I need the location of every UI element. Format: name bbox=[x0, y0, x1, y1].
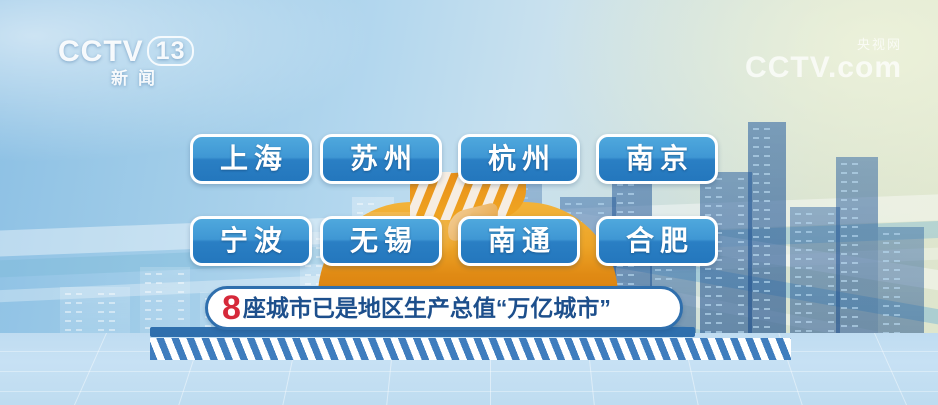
city-chip-label: 宁波 bbox=[214, 227, 288, 255]
city-chip-label: 无锡 bbox=[344, 227, 418, 255]
channel-logo: CCTV13 新闻 bbox=[58, 36, 208, 94]
watermark-main: CCTV.com bbox=[745, 52, 902, 84]
watermark-suffix: .com bbox=[828, 51, 902, 84]
city-chip-label: 南通 bbox=[482, 227, 556, 255]
city-chip-nanjing[interactable]: 南京 bbox=[596, 134, 718, 184]
city-chip-label: 杭州 bbox=[482, 145, 556, 173]
city-chip-shanghai[interactable]: 上海 bbox=[190, 134, 312, 184]
city-chip-label: 苏州 bbox=[344, 145, 418, 173]
channel-logo-number: 13 bbox=[147, 36, 195, 66]
city-chip-hefei[interactable]: 合肥 bbox=[596, 216, 718, 266]
caption-text: 座城市已是地区生产总值“万亿城市” bbox=[243, 297, 611, 320]
city-chip-ningbo[interactable]: 宁波 bbox=[190, 216, 312, 266]
city-chip-nantong[interactable]: 南通 bbox=[458, 216, 580, 266]
city-chip-label: 南京 bbox=[620, 145, 694, 173]
city-chip-hangzhou[interactable]: 杭州 bbox=[458, 134, 580, 184]
watermark: 央视网 CCTV.com bbox=[745, 38, 902, 84]
caption-count: 8 bbox=[222, 291, 241, 325]
city-chip-suzhou[interactable]: 苏州 bbox=[320, 134, 442, 184]
caption-banner: 8 座城市已是地区生产总值“万亿城市” bbox=[205, 286, 683, 330]
channel-logo-text: CCTV bbox=[58, 35, 144, 68]
diagonal-stripe-bar bbox=[150, 338, 791, 360]
city-chip-wuxi[interactable]: 无锡 bbox=[320, 216, 442, 266]
city-chip-label: 合肥 bbox=[620, 227, 694, 255]
channel-logo-main: CCTV13 bbox=[58, 36, 208, 68]
watermark-cn: 央视网 bbox=[745, 38, 902, 52]
watermark-brand: CCTV bbox=[745, 51, 828, 84]
broadcast-graphic: 上海 苏州 杭州 南京 宁波 无锡 南通 合肥 8 座城市已是地区生产总值“万亿… bbox=[0, 0, 938, 405]
channel-logo-sub: 新闻 bbox=[58, 68, 208, 90]
city-chip-label: 上海 bbox=[214, 145, 288, 173]
